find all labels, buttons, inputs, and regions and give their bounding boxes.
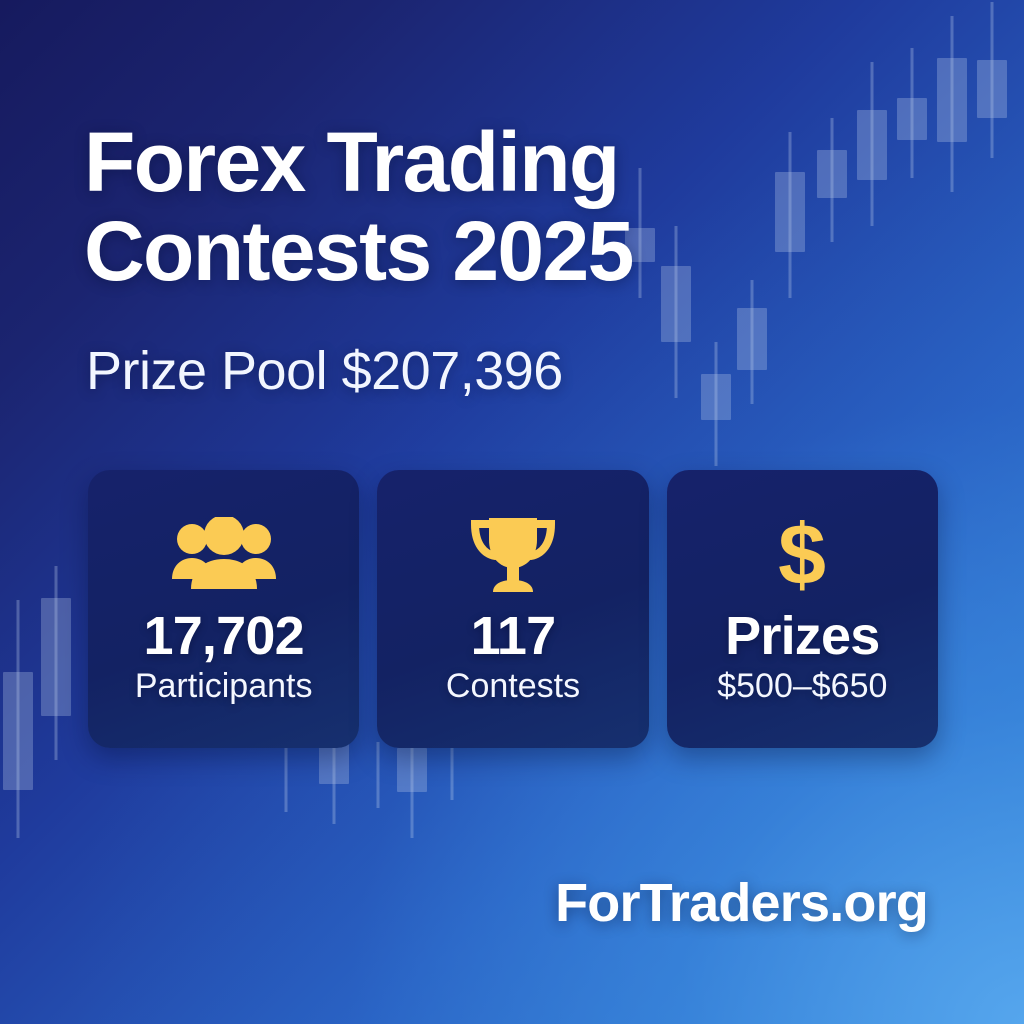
svg-text:$: $: [778, 510, 826, 600]
stat-value-contests: 117: [471, 608, 556, 664]
dollar-sign-icon: $: [764, 510, 840, 600]
stat-label-prizes: $500–$650: [717, 666, 887, 707]
poster-canvas: Forex Trading Contests 2025 Prize Pool $…: [0, 0, 1024, 1024]
stat-value-participants: 17,702: [143, 608, 303, 664]
people-group-icon: [164, 510, 284, 600]
trophy-icon: [465, 510, 561, 600]
prize-pool-subheadline: Prize Pool $207,396: [86, 340, 563, 402]
headline-line-2: Contests 2025: [84, 207, 724, 296]
poster-content: Forex Trading Contests 2025 Prize Pool $…: [0, 0, 1024, 1024]
headline-line-1: Forex Trading: [84, 118, 724, 207]
stat-card-contests[interactable]: 117 Contests: [377, 470, 648, 748]
stat-card-participants[interactable]: 17,702 Participants: [88, 470, 359, 748]
brand-wordmark[interactable]: ForTraders.org: [555, 872, 928, 934]
stat-card-group: 17,702 Participants 117 Contests: [88, 470, 938, 748]
stat-label-contests: Contests: [446, 666, 580, 707]
page-title: Forex Trading Contests 2025: [84, 118, 724, 296]
stat-card-prizes[interactable]: $ Prizes $500–$650: [667, 470, 938, 748]
stat-label-participants: Participants: [135, 666, 313, 707]
stat-value-prizes: Prizes: [725, 608, 879, 664]
